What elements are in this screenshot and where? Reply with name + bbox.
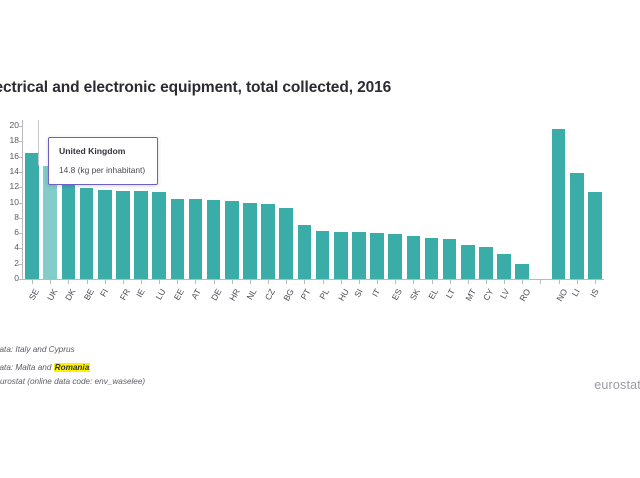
x-axis-tick-mark — [286, 280, 287, 284]
x-axis-tick-mark — [359, 280, 360, 284]
bar-rect[interactable] — [189, 199, 203, 279]
bar-rect[interactable] — [334, 232, 348, 279]
x-axis-label-LV: LV — [498, 287, 512, 300]
bar-rect[interactable] — [298, 225, 312, 279]
x-axis-label-IS: IS — [588, 287, 601, 299]
x-axis-tick-mark — [450, 280, 451, 284]
bar-HR[interactable] — [223, 126, 241, 279]
x-axis-label-IE: IE — [134, 287, 147, 299]
bar-rect[interactable] — [497, 254, 511, 279]
tooltip-value: 14.8 (kg per inhabitant) — [59, 165, 147, 175]
bar-MT[interactable] — [459, 126, 477, 279]
x-axis-label-EE: EE — [172, 287, 186, 302]
source-note: Source: Eurostat (online data code: env_… — [0, 377, 145, 386]
x-axis-tick-mark — [250, 280, 251, 284]
bar-SK[interactable] — [404, 126, 422, 279]
bar-rect[interactable] — [207, 200, 221, 279]
x-axis-label-EL: EL — [426, 287, 440, 301]
x-axis-label-FI: FI — [97, 287, 109, 299]
x-axis-tick-mark — [50, 280, 51, 284]
chart-figure: te electrical and electronic equipment, … — [0, 0, 640, 478]
x-axis-label-CY: CY — [481, 287, 496, 302]
footnote-2: (²) 2014 data: Malta and Romania — [0, 359, 584, 377]
x-axis-label-SI: SI — [352, 287, 365, 299]
bar-ES[interactable] — [386, 126, 404, 279]
x-axis-tick-mark — [595, 280, 596, 284]
footnotes: (¹) 2015 data: Italy and Cyprus (²) 2014… — [0, 341, 584, 376]
x-axis-label-PL: PL — [317, 287, 331, 301]
x-axis-label-LT: LT — [443, 287, 456, 300]
x-axis-tick-mark — [323, 280, 324, 284]
bar-rect[interactable] — [171, 199, 185, 279]
x-axis-tick-mark — [304, 280, 305, 284]
footnote-highlight: Romania — [54, 363, 91, 372]
bar-LT[interactable] — [441, 126, 459, 279]
bar-rect[interactable] — [134, 191, 148, 279]
bar-HU[interactable] — [332, 126, 350, 279]
bar-rect[interactable] — [62, 182, 76, 279]
bar-rect[interactable] — [316, 231, 330, 279]
bar-IT[interactable] — [368, 126, 386, 279]
x-axis-tick-mark — [577, 280, 578, 284]
bar-rect[interactable] — [279, 208, 293, 279]
bar-PL[interactable] — [314, 126, 332, 279]
footnote-2-text: (²) 2014 data: Malta and — [0, 363, 54, 372]
bar-rect[interactable] — [243, 203, 257, 279]
bar-rect[interactable] — [370, 233, 384, 279]
bar-rect[interactable] — [515, 264, 529, 279]
bar-rect[interactable] — [425, 238, 439, 279]
x-axis-label-UK: UK — [45, 287, 60, 302]
eurostat-logo: eurostat — [594, 378, 640, 392]
bar-rect[interactable] — [552, 129, 566, 279]
bar-rect[interactable] — [570, 173, 584, 279]
bar-rect[interactable] — [388, 234, 402, 279]
x-axis-tick-mark — [232, 280, 233, 284]
x-axis-tick-mark — [177, 280, 178, 284]
bar-NO[interactable] — [550, 126, 568, 279]
x-axis-tick-mark — [32, 280, 33, 284]
bar-CZ[interactable] — [259, 126, 277, 279]
x-axis-label-FR: FR — [118, 287, 132, 302]
x-axis-label-NO: NO — [554, 287, 569, 303]
x-axis-label-LU: LU — [154, 287, 168, 301]
x-axis-tick-mark — [87, 280, 88, 284]
x-axis-label-HR: HR — [227, 287, 242, 303]
bar-rect[interactable] — [80, 188, 94, 279]
bar-rect[interactable] — [443, 239, 457, 279]
x-axis-label-SE: SE — [27, 287, 41, 302]
x-axis-label-SK: SK — [408, 287, 422, 302]
bar-EE[interactable] — [168, 126, 186, 279]
x-axis-label-BG: BG — [281, 287, 296, 303]
x-axis-tick-mark — [268, 280, 269, 284]
x-axis-tick-mark — [504, 280, 505, 284]
bar-LV[interactable] — [495, 126, 513, 279]
x-axis-tick-mark — [123, 280, 124, 284]
x-axis-label-BE: BE — [81, 287, 95, 302]
x-axis-label-DK: DK — [63, 287, 78, 302]
x-axis-tick-mark — [432, 280, 433, 284]
x-axis-tick-mark — [468, 280, 469, 284]
x-axis-tick-mark — [522, 280, 523, 284]
bar-rect[interactable] — [261, 204, 275, 279]
bar-rect[interactable] — [588, 192, 602, 279]
x-axis-label-LI: LI — [569, 287, 581, 298]
bar-LI[interactable] — [568, 126, 586, 279]
x-axis-label-ES: ES — [390, 287, 404, 302]
x-axis-label-IT: IT — [370, 287, 382, 299]
x-axis-tick-mark — [395, 280, 396, 284]
page-title: te electrical and electronic equipment, … — [0, 79, 391, 97]
x-axis-tick-mark — [105, 280, 106, 284]
x-axis-label-RO: RO — [518, 287, 533, 303]
x-axis-tick-mark — [559, 280, 560, 284]
x-axis-label-NL: NL — [244, 287, 258, 301]
x-axis-label-HU: HU — [336, 287, 351, 303]
bar-rect[interactable] — [479, 247, 493, 279]
bar-rect[interactable] — [461, 245, 475, 279]
x-axis-label-DE: DE — [209, 287, 224, 302]
bar-RO[interactable] — [513, 126, 531, 279]
x-axis-label-CZ: CZ — [263, 287, 277, 302]
bar-NL[interactable] — [241, 126, 259, 279]
x-axis-tick-mark — [486, 280, 487, 284]
bar-PT[interactable] — [295, 126, 313, 279]
x-axis-label-MT: MT — [463, 287, 478, 303]
x-axis-tick-mark — [195, 280, 196, 284]
x-axis-tick-mark — [159, 280, 160, 284]
x-axis-tick-mark — [413, 280, 414, 284]
bar-IS[interactable] — [586, 126, 604, 279]
x-axis-tick-mark — [68, 280, 69, 284]
tooltip-country: United Kingdom — [59, 146, 147, 156]
x-axis-tick-mark — [377, 280, 378, 284]
bar-rect[interactable] — [25, 153, 39, 279]
bar-EL[interactable] — [422, 126, 440, 279]
x-axis-tick-mark — [341, 280, 342, 284]
bar-rect[interactable] — [152, 192, 166, 279]
tooltip-stem — [38, 120, 39, 165]
footnote-1: (¹) 2015 data: Italy and Cyprus — [0, 341, 584, 359]
x-axis-tick-mark — [214, 280, 215, 284]
bar-gap — [531, 126, 549, 279]
tooltip: United Kingdom 14.8 (kg per inhabitant) — [48, 137, 158, 185]
bar-SI[interactable] — [350, 126, 368, 279]
x-axis-label-AT: AT — [190, 287, 204, 301]
bar-CY[interactable] — [477, 126, 495, 279]
bar-DE[interactable] — [205, 126, 223, 279]
bar-AT[interactable] — [186, 126, 204, 279]
x-axis-tick-mark — [540, 280, 541, 284]
bar-rect[interactable] — [407, 236, 421, 279]
x-axis-label-PT: PT — [299, 287, 313, 301]
bar-rect[interactable] — [98, 190, 112, 279]
bar-rect[interactable] — [225, 201, 239, 279]
bar-rect[interactable] — [352, 232, 366, 279]
bar-rect[interactable] — [116, 191, 130, 279]
x-axis-tick-mark — [141, 280, 142, 284]
bar-BG[interactable] — [277, 126, 295, 279]
